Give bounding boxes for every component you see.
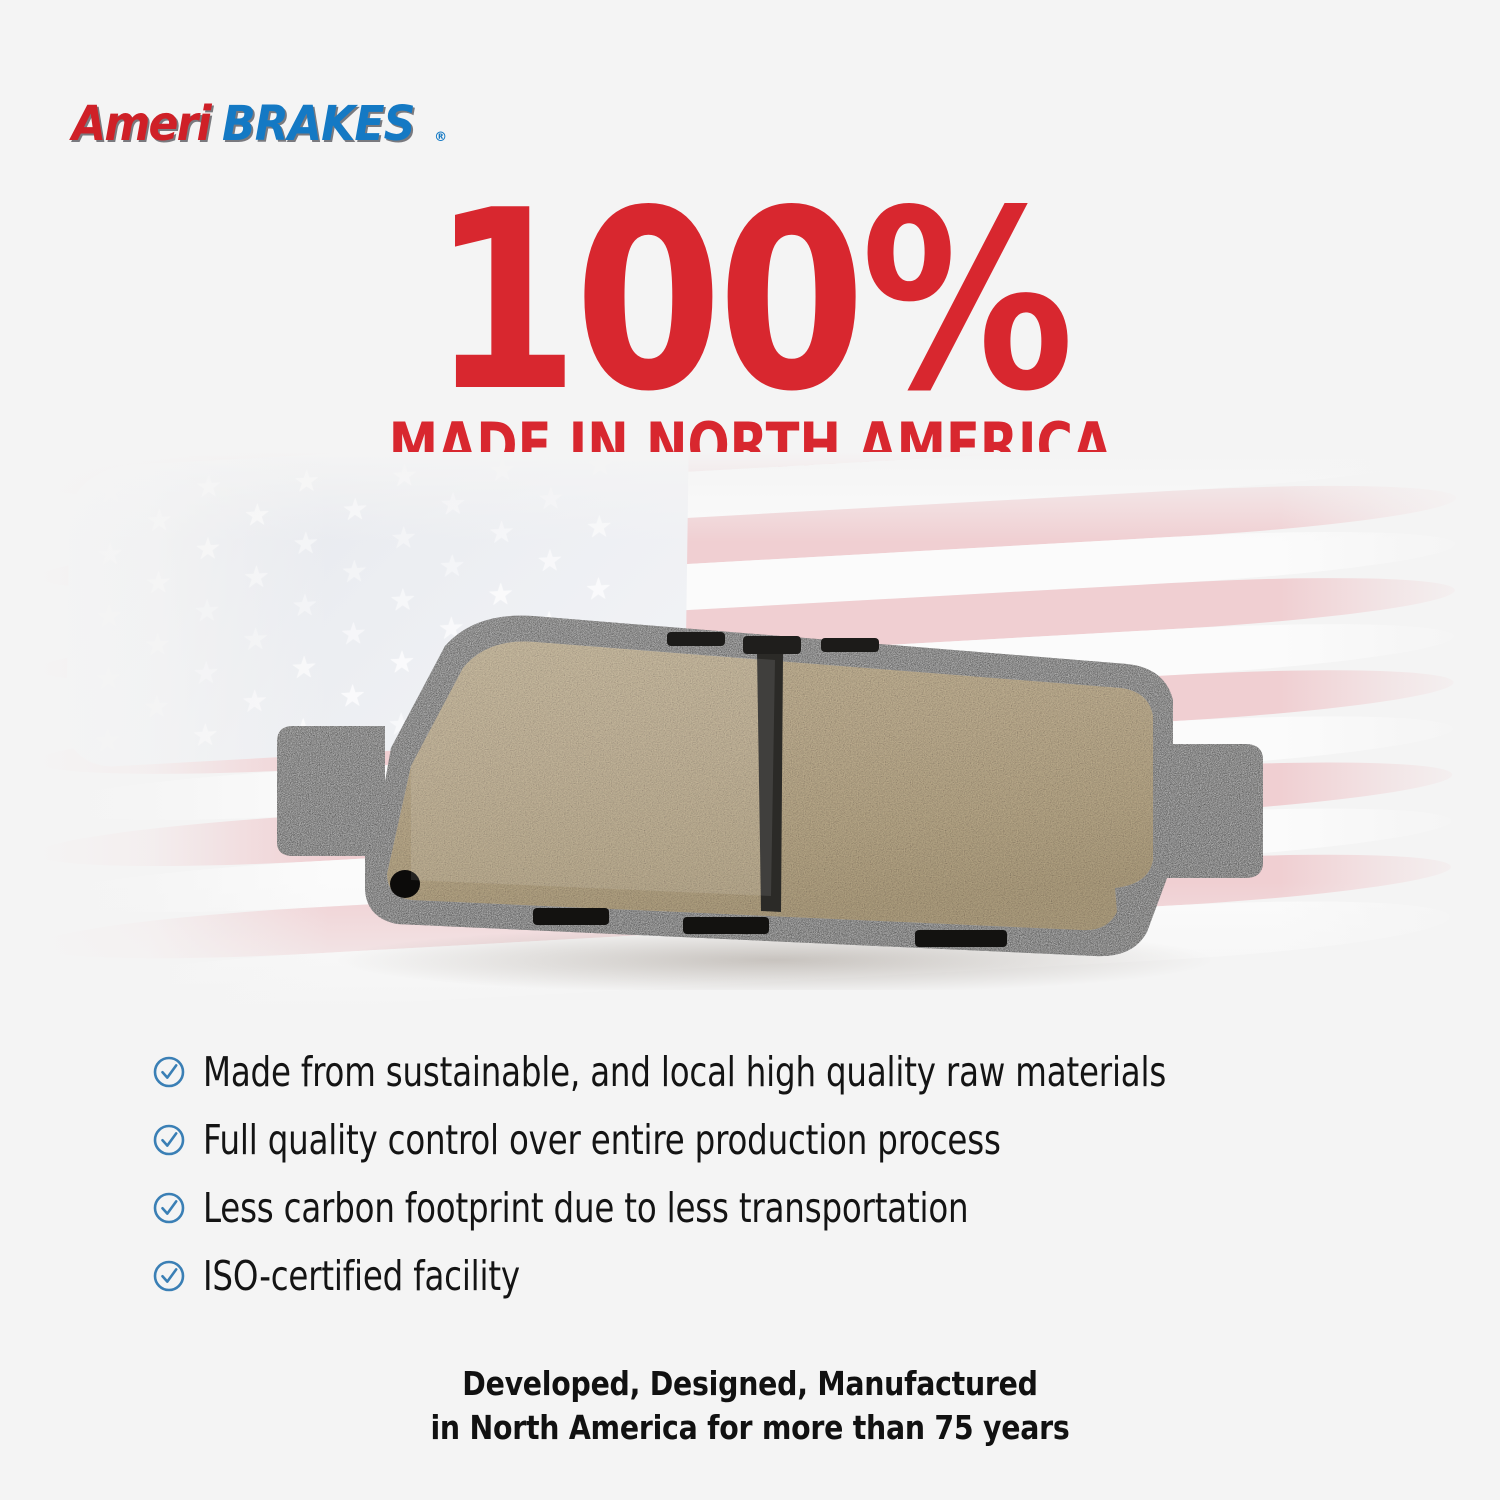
flag-star: ★ <box>390 523 417 555</box>
flag-star: ★ <box>244 500 271 532</box>
flag-star: ★ <box>97 477 124 509</box>
flag-star: ★ <box>145 568 172 600</box>
brand-logo[interactable]: Ameri BRAKES ® <box>72 100 447 148</box>
pad-highlight <box>411 642 775 896</box>
feature-list: Made from sustainable, and local high qu… <box>152 1038 1382 1310</box>
registered-trademark-icon: ® <box>434 131 447 144</box>
page-title-percent: 100% <box>431 196 1069 409</box>
headline-block: 100% MADE IN NORTH AMERICA <box>0 196 1500 477</box>
pad-bottom-notch-center <box>683 917 769 934</box>
feature-label: Made from sustainable, and local high qu… <box>203 1052 1166 1093</box>
pad-top-notch-left <box>667 632 725 646</box>
flag-star: ★ <box>292 529 319 561</box>
footer-line-2: in North America for more than 75 years <box>105 1406 1395 1450</box>
flag-star: ★ <box>143 692 170 724</box>
flag-star: ★ <box>537 484 564 516</box>
brake-pad-svg <box>215 560 1325 990</box>
check-circle-icon <box>152 1055 186 1089</box>
feature-label: Less carbon footprint due to less transp… <box>203 1188 968 1229</box>
flag-star: ★ <box>96 539 123 571</box>
flag-star: ★ <box>94 726 121 758</box>
list-item: Less carbon footprint due to less transp… <box>152 1174 1382 1242</box>
logo-text-ameri: Ameri <box>72 100 210 148</box>
flag-star: ★ <box>95 602 122 634</box>
footer-block: Developed, Designed, Manufactured in Nor… <box>0 1362 1500 1449</box>
flag-star: ★ <box>439 489 466 521</box>
flag-star: ★ <box>95 664 122 696</box>
pad-top-clip <box>743 636 801 654</box>
pad-bottom-notch-right <box>915 930 1007 947</box>
feature-label: Full quality control over entire product… <box>203 1120 1001 1161</box>
feature-label: ISO-certified facility <box>203 1256 520 1297</box>
check-circle-icon <box>152 1191 186 1225</box>
poster-canvas: Ameri BRAKES ® 100% MADE IN NORTH AMERIC… <box>0 0 1500 1500</box>
logo-text-brakes: BRAKES <box>222 100 415 148</box>
check-circle-icon <box>152 1123 186 1157</box>
flag-star: ★ <box>586 512 613 544</box>
check-circle-icon <box>152 1259 186 1293</box>
list-item: Made from sustainable, and local high qu… <box>152 1038 1382 1106</box>
flag-star: ★ <box>341 495 368 527</box>
flag-star: ★ <box>488 518 515 550</box>
flag-star: ★ <box>144 630 171 662</box>
page-subtitle: MADE IN NORTH AMERICA <box>150 415 1350 477</box>
list-item: Full quality control over entire product… <box>152 1106 1382 1174</box>
pad-top-notch-right <box>821 638 879 652</box>
brake-pad-product-image <box>215 560 1325 990</box>
list-item: ISO-certified facility <box>152 1242 1382 1310</box>
flag-star: ★ <box>146 506 173 538</box>
footer-line-1: Developed, Designed, Manufactured <box>105 1362 1395 1406</box>
pad-bottom-notch-left <box>533 908 609 925</box>
